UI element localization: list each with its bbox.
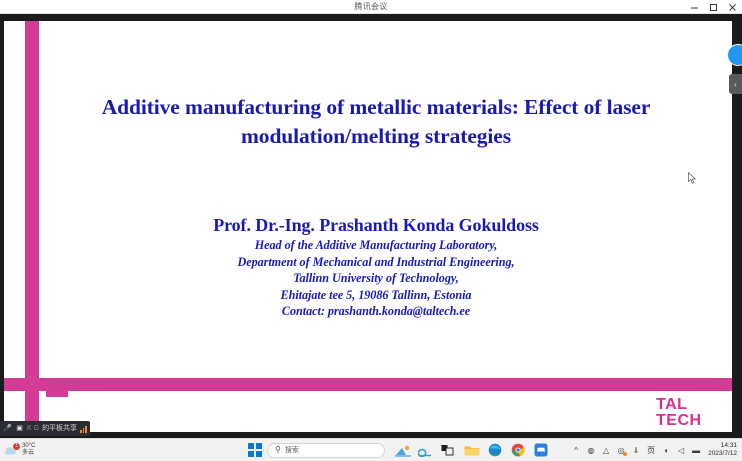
slide-title-line-2: modulation/melting strategies xyxy=(66,122,686,151)
meeting-mini-toolbar[interactable]: 🎤 ▣ K G 的平板共享 xyxy=(0,421,90,436)
maximize-button[interactable] xyxy=(704,0,723,14)
minimize-button[interactable] xyxy=(685,0,704,14)
slide-accent-horizontal-bar xyxy=(4,378,732,391)
signal-bars-icon xyxy=(80,425,87,433)
desktop-root: 腾讯会议 Additive manufacturing of metallic … xyxy=(0,0,742,461)
weather-taskbar-icon[interactable] xyxy=(394,442,411,459)
keyboard-shortcut-hint: K G xyxy=(27,425,39,432)
system-tray: ^ ◍ △ ◎ ⇓ 页 ◖ ◁ ▬ 14:31 2023/7/12 xyxy=(571,439,740,461)
clock-date: 2023/7/12 xyxy=(708,450,737,458)
weather-text: 30°C 多云 xyxy=(22,443,35,457)
show-hidden-icons-button[interactable]: ^ xyxy=(571,443,581,457)
slide-accent-stub xyxy=(46,391,68,397)
taskbar-center-cluster: ⚲ 搜索 xyxy=(248,439,549,461)
participant-avatar[interactable] xyxy=(727,44,742,66)
window-title: 腾讯会议 xyxy=(0,0,742,14)
meeting-app-icon[interactable] xyxy=(532,442,549,459)
chevron-left-icon: ‹ xyxy=(734,80,737,89)
author-block: Prof. Dr.-Ing. Prashanth Konda Gokuldoss… xyxy=(66,213,686,320)
slide-title-line-1: Additive manufacturing of metallic mater… xyxy=(66,93,686,122)
search-placeholder: 搜索 xyxy=(285,445,299,455)
weather-notification-badge: 1 xyxy=(13,443,20,450)
slide-title: Additive manufacturing of metallic mater… xyxy=(66,93,686,151)
affiliation-line-3: Tallinn University of Technology, xyxy=(66,270,686,287)
collapse-panel-button[interactable]: ‹ xyxy=(729,74,742,94)
affiliation-contact: Contact: prashanth.konda@taltech.ee xyxy=(66,303,686,320)
taskbar-weather-widget[interactable]: 1 30°C 多云 xyxy=(0,439,35,461)
taltech-logo-line-2: TECH xyxy=(656,413,724,429)
taskbar-app-icons xyxy=(394,442,549,459)
shared-screen-stage: Additive manufacturing of metallic mater… xyxy=(0,14,742,438)
taskbar-search-box[interactable]: ⚲ 搜索 xyxy=(267,443,385,458)
battery-icon[interactable]: ▬ xyxy=(691,443,701,457)
presentation-slide: Additive manufacturing of metallic mater… xyxy=(4,21,732,432)
google-chrome-icon[interactable] xyxy=(509,442,526,459)
download-icon[interactable]: ⇓ xyxy=(631,443,641,457)
task-view-icon[interactable] xyxy=(440,442,457,459)
meeting-window-titlebar: 腾讯会议 xyxy=(0,0,742,14)
mouse-cursor xyxy=(688,171,696,183)
widgets-icon[interactable] xyxy=(417,442,434,459)
close-button[interactable] xyxy=(723,0,742,14)
affiliation-line-2: Department of Mechanical and Industrial … xyxy=(66,254,686,271)
microsoft-edge-icon[interactable] xyxy=(486,442,503,459)
notification-app-icon[interactable]: ◎ xyxy=(616,443,626,457)
microphone-icon[interactable]: 🎤 xyxy=(3,424,12,433)
weather-condition: 多云 xyxy=(22,450,35,457)
slide-accent-vertical-bar xyxy=(25,21,39,432)
windows-logo-icon[interactable] xyxy=(248,443,262,457)
taskbar-clock[interactable]: 14:31 2023/7/12 xyxy=(706,442,740,458)
file-explorer-icon[interactable] xyxy=(463,442,480,459)
camera-icon[interactable]: ▣ xyxy=(15,424,24,433)
cloud-sync-icon[interactable]: △ xyxy=(601,443,611,457)
weather-temperature: 30°C xyxy=(22,443,35,450)
share-status-label: 的平板共享 xyxy=(42,421,77,436)
taltech-logo: TAL TECH xyxy=(656,397,724,429)
window-controls xyxy=(685,0,742,14)
taltech-logo-line-1: TAL xyxy=(656,397,724,413)
search-icon: ⚲ xyxy=(275,446,281,454)
volume-icon[interactable]: ◁ xyxy=(676,443,686,457)
affiliation-line-1: Head of the Additive Manufacturing Labor… xyxy=(66,237,686,254)
network-icon[interactable]: ◖ xyxy=(661,443,671,457)
weather-cloud-icon: 1 xyxy=(4,444,19,457)
clock-time: 14:31 xyxy=(721,442,737,450)
windows-taskbar: 1 30°C 多云 ⚲ 搜索 xyxy=(0,438,742,461)
security-icon[interactable]: ◍ xyxy=(586,443,596,457)
notification-dot xyxy=(623,452,627,456)
affiliation-line-4: Ehitajate tee 5, 19086 Tallinn, Estonia xyxy=(66,287,686,304)
author-name: Prof. Dr.-Ing. Prashanth Konda Gokuldoss xyxy=(66,213,686,237)
ime-icon[interactable]: 页 xyxy=(646,443,656,457)
